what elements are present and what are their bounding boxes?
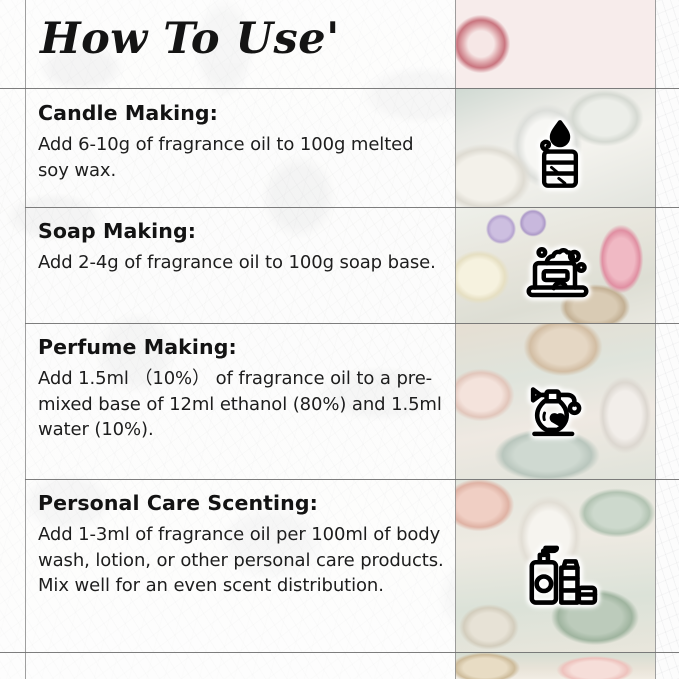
section-soap-making: Soap Making: Add 2-4g of fragrance oil t… — [38, 219, 448, 276]
photo-roses-top — [455, 0, 655, 88]
personal-care-products-icon — [510, 515, 610, 630]
section-body: Add 1.5ml （10%） of fragrance oil to a pr… — [38, 366, 448, 443]
soap-bar-icon — [510, 220, 610, 320]
section-candle-making: Candle Making: Add 6-10g of fragrance oi… — [38, 101, 448, 183]
divider-title — [0, 88, 679, 89]
divider-perfume-care — [25, 479, 679, 480]
section-heading: Personal Care Scenting: — [38, 491, 448, 515]
divider-candle-soap — [25, 207, 679, 208]
section-heading: Candle Making: — [38, 101, 448, 125]
section-heading: Perfume Making: — [38, 335, 448, 359]
divider-soap-perfume — [25, 323, 679, 324]
perfume-bottle-icon — [510, 350, 610, 460]
section-personal-care-scenting: Personal Care Scenting: Add 1-3ml of fra… — [38, 491, 448, 599]
photo-bottom-row — [455, 652, 655, 679]
section-body: Add 1-3ml of fragrance oil per 100ml of … — [38, 522, 448, 599]
candle-icon — [510, 104, 610, 204]
photo-column-left-rule — [455, 0, 456, 679]
right-edge-texture — [655, 0, 679, 679]
section-body: Add 6-10g of fragrance oil to 100g melte… — [38, 132, 448, 183]
divider-bottom — [0, 652, 679, 653]
photo-column-right-rule — [655, 0, 656, 679]
section-heading: Soap Making: — [38, 219, 448, 243]
section-body: Add 2-4g of fragrance oil to 100g soap b… — [38, 250, 448, 276]
left-vertical-rule — [25, 0, 26, 679]
section-perfume-making: Perfume Making: Add 1.5ml （10%） of fragr… — [38, 335, 448, 443]
page-title: How To Use' — [40, 14, 340, 64]
how-to-use-poster: How To Use' Candle Making: Add 6-10g of … — [0, 0, 679, 679]
